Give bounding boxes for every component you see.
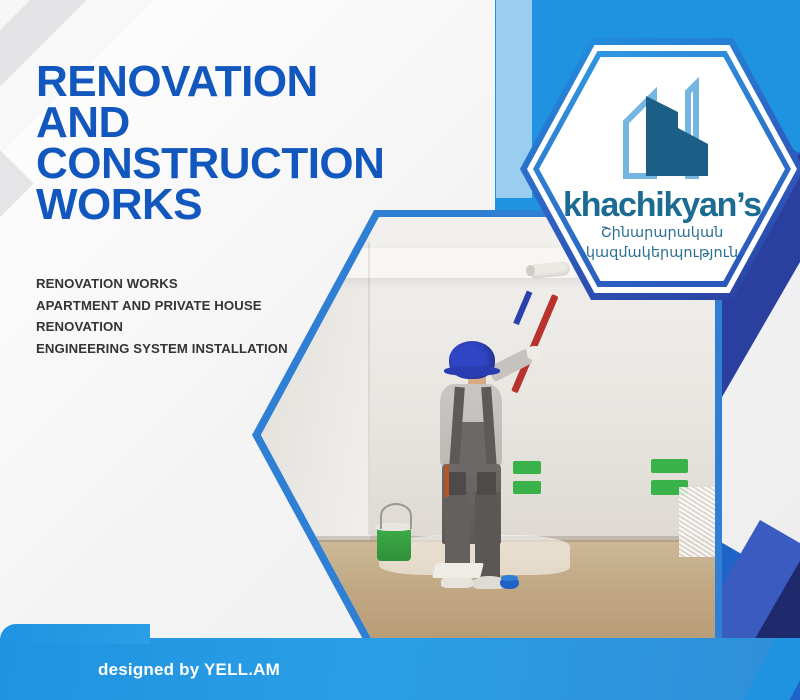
photo-wall-box bbox=[513, 461, 540, 474]
photo-mesh-panel bbox=[679, 487, 715, 557]
headline-line-4: WORKS bbox=[36, 185, 456, 226]
photo-wall-box bbox=[513, 481, 540, 494]
company-logo[interactable]: khachikyan’s Շինարարական կազմակերպությու… bbox=[520, 38, 800, 300]
headline-line-2: AND bbox=[36, 103, 456, 144]
logo-tagline-line-1: Շինարարական bbox=[520, 224, 800, 244]
designer-credit: designed by YELL.AM bbox=[98, 660, 280, 680]
headline-line-1: RENOVATION bbox=[36, 62, 456, 103]
logo-wordmark: khachikyan’s bbox=[520, 186, 800, 225]
headline-line-3: CONSTRUCTION bbox=[36, 144, 456, 185]
photo-pants-stripe bbox=[445, 465, 449, 498]
photo-worker-glove bbox=[527, 346, 542, 360]
photo-pants-pocket bbox=[447, 472, 466, 496]
service-item: APARTMENT AND PRIVATE HOUSE bbox=[36, 295, 336, 317]
logo-tagline-line-2: կազմակերպություն bbox=[520, 244, 800, 264]
photo-bucket-handle bbox=[380, 503, 412, 529]
page-title: RENOVATION AND CONSTRUCTION WORKS bbox=[36, 62, 456, 226]
photo-wall-corner bbox=[368, 243, 370, 535]
logo-tagline: Շինարարական կազմակերպություն bbox=[520, 224, 800, 263]
chevron-shape bbox=[0, 120, 34, 679]
photo-pants-pocket bbox=[477, 472, 496, 496]
service-item: ENGINEERING SYSTEM INSTALLATION bbox=[36, 338, 336, 360]
photo-wall-box bbox=[651, 459, 687, 474]
photo-green-strip bbox=[268, 479, 275, 518]
services-list: RENOVATION WORKS APARTMENT AND PRIVATE H… bbox=[36, 273, 336, 359]
building-icon bbox=[592, 72, 732, 182]
photo-tape-roll-top bbox=[501, 575, 517, 581]
service-item: RENOVATION bbox=[36, 316, 336, 338]
photo-hard-hat-brim bbox=[444, 366, 499, 376]
advertisement-poster: RENOVATION AND CONSTRUCTION WORKS RENOVA… bbox=[0, 0, 800, 700]
service-item: RENOVATION WORKS bbox=[36, 273, 336, 295]
photo-paint-tray bbox=[432, 563, 484, 578]
